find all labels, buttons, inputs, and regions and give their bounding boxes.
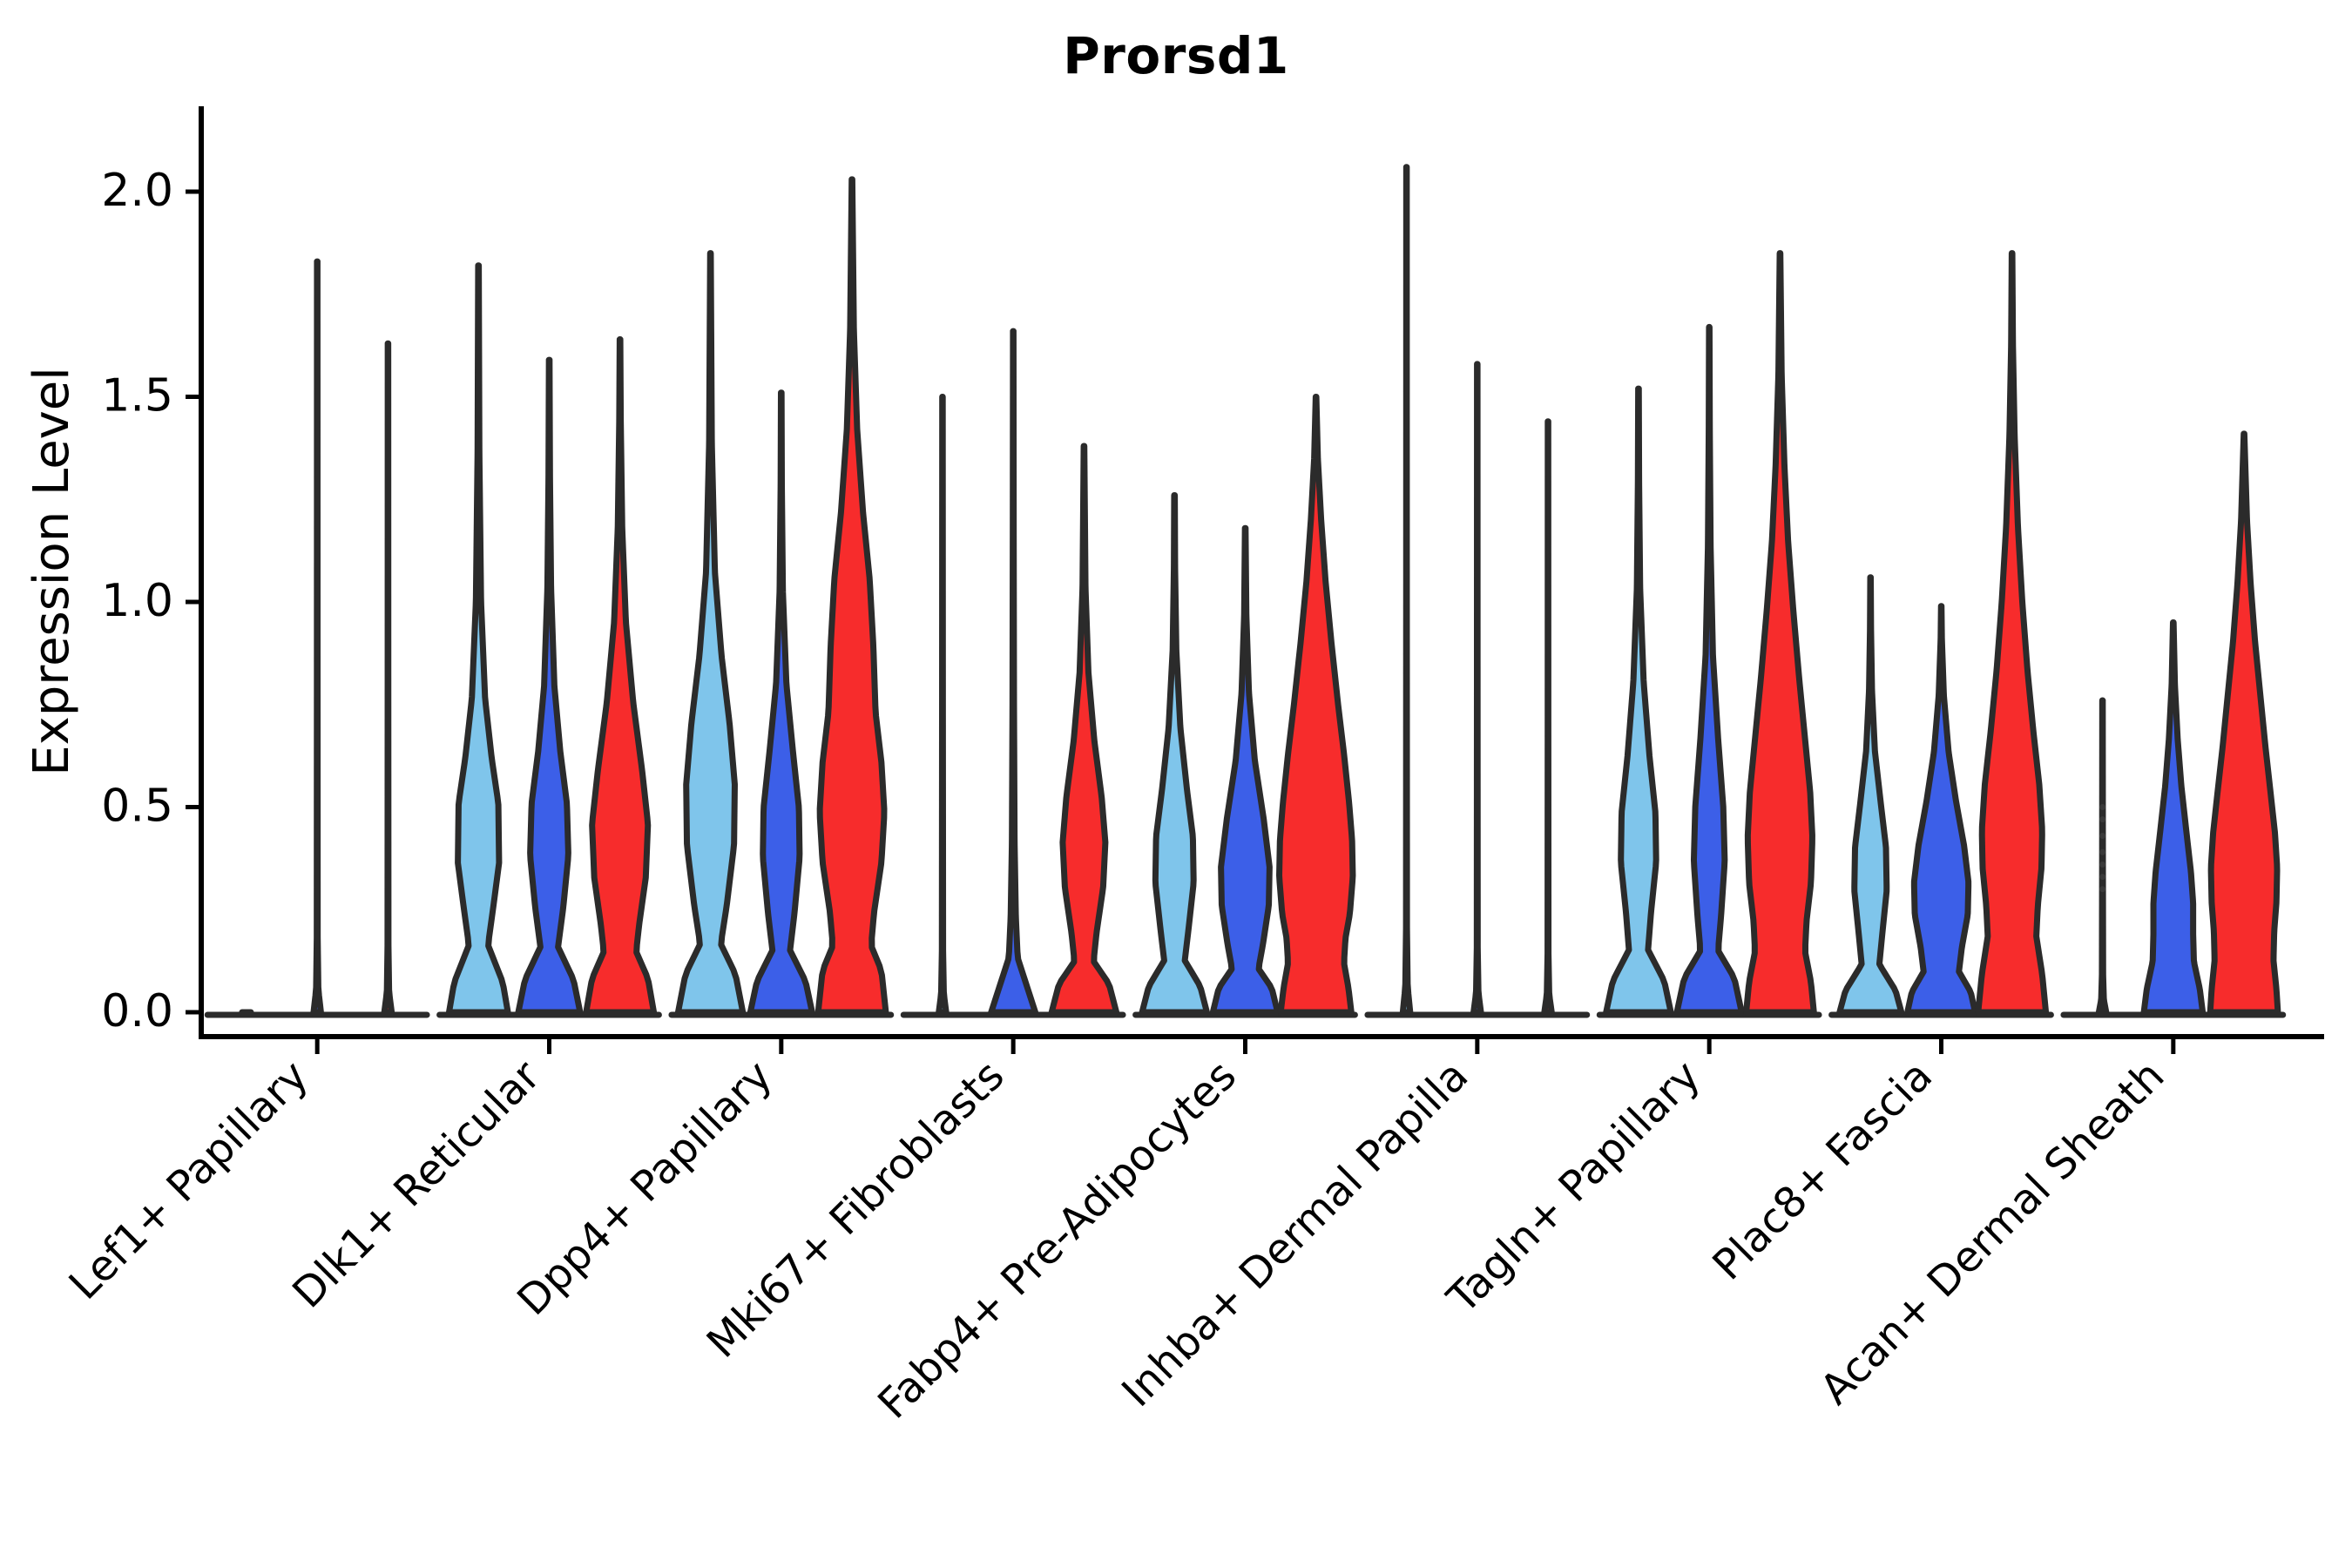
violin-body[interactable] <box>449 266 508 1012</box>
violin-body[interactable] <box>818 179 886 1012</box>
violin-group[interactable] <box>2064 434 2283 1015</box>
x-tick-label: Lef1+ Papillary <box>60 1051 318 1309</box>
violin-body[interactable] <box>750 393 812 1012</box>
violin-plot-figure: Prorsd1 0.00.51.01.52.0 Lef1+ PapillaryD… <box>0 0 2352 1568</box>
violin-chart-canvas: 0.00.51.01.52.0 Lef1+ PapillaryDlk1+ Ret… <box>0 0 2352 1568</box>
violin-group[interactable] <box>672 179 891 1015</box>
violin-group[interactable] <box>440 266 659 1015</box>
x-tick-label: Dpp4+ Papillary <box>508 1051 781 1325</box>
violin-body[interactable] <box>2144 623 2203 1012</box>
x-tick-label: Plac8+ Fascia <box>1703 1051 1942 1290</box>
y-axis-label-text: Expression Level <box>24 367 80 776</box>
violin-body[interactable] <box>2099 700 2105 1012</box>
data-point-marker <box>2099 874 2105 880</box>
violins-layer <box>207 167 2282 1015</box>
x-tick-label: Tagln+ Papillary <box>1437 1051 1709 1323</box>
x-axis-ticks: Lef1+ PapillaryDlk1+ ReticularDpp4+ Papi… <box>60 1037 2174 1429</box>
violin-body[interactable] <box>314 261 321 1012</box>
violin-body[interactable] <box>1051 446 1116 1012</box>
data-point-marker <box>2099 886 2105 892</box>
violin-body[interactable] <box>586 340 654 1012</box>
violin-body[interactable] <box>1544 422 1551 1012</box>
violin-body[interactable] <box>1677 327 1741 1012</box>
data-point-marker <box>2099 833 2105 839</box>
data-point-marker <box>2099 804 2105 810</box>
y-axis-ticks: 0.00.51.01.52.0 <box>101 165 201 1037</box>
violin-body[interactable] <box>1606 389 1671 1012</box>
violin-group[interactable] <box>1832 253 2051 1015</box>
violin-body[interactable] <box>1474 364 1481 1012</box>
y-tick-label: 0.0 <box>101 985 173 1037</box>
violin-body[interactable] <box>1280 397 1353 1013</box>
data-point-marker <box>2099 862 2105 868</box>
data-point-marker <box>2099 849 2105 855</box>
violin-body[interactable] <box>518 360 580 1012</box>
violin-group[interactable] <box>1599 253 1819 1015</box>
x-tick-label: Dlk1+ Reticular <box>283 1051 550 1318</box>
violin-body[interactable] <box>678 253 742 1012</box>
violin-group[interactable] <box>1368 167 1587 1015</box>
violin-body[interactable] <box>939 397 946 1013</box>
violin-group[interactable] <box>903 331 1123 1015</box>
y-tick-label: 2.0 <box>101 165 173 217</box>
violin-body[interactable] <box>2210 434 2278 1012</box>
violin-body[interactable] <box>991 331 1036 1012</box>
data-point-marker <box>2099 816 2105 822</box>
violin-body[interactable] <box>384 343 391 1012</box>
violin-body[interactable] <box>1213 528 1277 1012</box>
violin-body[interactable] <box>1978 253 2046 1012</box>
violin-body[interactable] <box>1142 496 1206 1012</box>
y-tick-label: 1.5 <box>101 370 173 422</box>
violin-body[interactable] <box>1402 167 1409 1012</box>
violin-body[interactable] <box>1840 578 1902 1012</box>
y-tick-label: 0.5 <box>101 781 173 833</box>
violin-group[interactable] <box>207 261 427 1015</box>
y-axis-label: Expression Level <box>24 367 80 776</box>
y-tick-label: 1.0 <box>101 575 173 627</box>
violin-body[interactable] <box>1908 606 1976 1012</box>
violin-group[interactable] <box>1136 397 1355 1016</box>
violin-body[interactable] <box>1747 253 1815 1012</box>
